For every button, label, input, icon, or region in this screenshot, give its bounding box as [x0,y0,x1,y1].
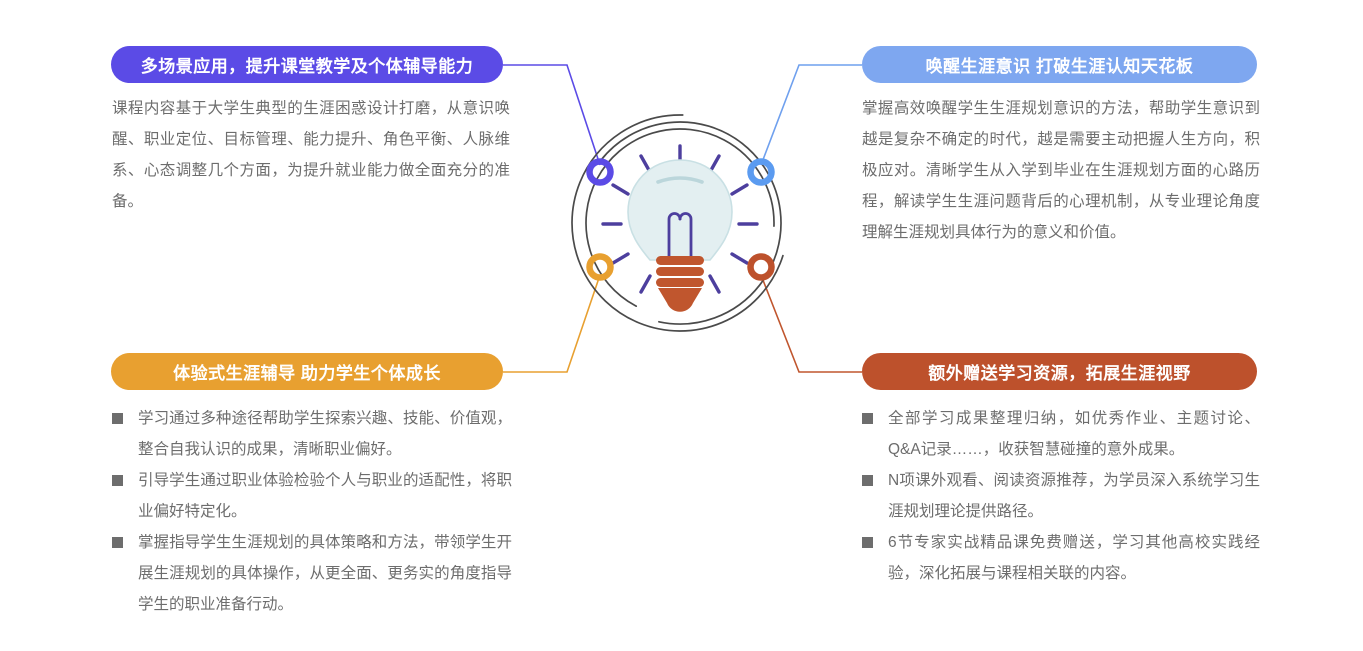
list-item: 掌握指导学生生涯规划的具体策略和方法，带领学生开展生涯规划的具体操作，从更全面、… [112,527,512,620]
quadrant-title-bottom-left[interactable]: 体验式生涯辅导 助力学生个体成长 [111,353,503,390]
quadrant-title-top-left[interactable]: 多场景应用，提升课堂教学及个体辅导能力 [111,46,503,83]
list-item: N项课外观看、阅读资源推荐，为学员深入系统学习生涯规划理论提供路径。 [862,465,1260,527]
list-item-text: 掌握指导学生生涯规划的具体策略和方法，带领学生开展生涯规划的具体操作，从更全面、… [138,534,512,613]
list-item-text: 6节专家实战精品课免费赠送，学习其他高校实践经验，深化拓展与课程相关联的内容。 [888,534,1260,582]
quadrant-title-bottom-right[interactable]: 额外赠送学习资源，拓展生涯视野 [862,353,1257,390]
quadrant-body-top-right: 掌握高效唤醒学生生涯规划意识的方法，帮助学生意识到越是复杂不确定的时代，越是需要… [862,93,1260,248]
list-item: 全部学习成果整理归纳，如优秀作业、主题讨论、Q&A记录……，收获智慧碰撞的意外成… [862,403,1260,465]
quadrant-bullets-bottom-right: 全部学习成果整理归纳，如优秀作业、主题讨论、Q&A记录……，收获智慧碰撞的意外成… [862,403,1260,589]
list-item-text: 全部学习成果整理归纳，如优秀作业、主题讨论、Q&A记录……，收获智慧碰撞的意外成… [888,410,1260,458]
bullet-square-icon [862,413,873,424]
list-item: 学习通过多种途径帮助学生探索兴趣、技能、价值观，整合自我认识的成果，清晰职业偏好… [112,403,512,465]
bullet-square-icon [862,537,873,548]
list-item-text: 引导学生通过职业体验检验个人与职业的适配性，将职业偏好特定化。 [138,472,512,520]
lightbulb-idea-illustration [555,98,805,348]
list-item: 6节专家实战精品课免费赠送，学习其他高校实践经验，深化拓展与课程相关联的内容。 [862,527,1260,589]
quadrant-bullets-bottom-left: 学习通过多种途径帮助学生探索兴趣、技能、价值观，整合自我认识的成果，清晰职业偏好… [112,403,512,620]
infographic-canvas: 多场景应用，提升课堂教学及个体辅导能力 课程内容基于大学生典型的生涯困惑设计打磨… [0,0,1363,651]
quadrant-title-top-right[interactable]: 唤醒生涯意识 打破生涯认知天花板 [862,46,1257,83]
quadrant-body-top-left: 课程内容基于大学生典型的生涯困惑设计打磨，从意识唤醒、职业定位、目标管理、能力提… [112,93,510,217]
list-item: 引导学生通过职业体验检验个人与职业的适配性，将职业偏好特定化。 [112,465,512,527]
list-item-text: 学习通过多种途径帮助学生探索兴趣、技能、价值观，整合自我认识的成果，清晰职业偏好… [138,410,512,458]
bullet-square-icon [862,475,873,486]
list-item-text: N项课外观看、阅读资源推荐，为学员深入系统学习生涯规划理论提供路径。 [888,472,1260,520]
bulb-base [656,256,704,312]
bullet-square-icon [112,413,123,424]
bulb-glass [628,160,732,260]
bullet-square-icon [112,537,123,548]
bullet-square-icon [112,475,123,486]
